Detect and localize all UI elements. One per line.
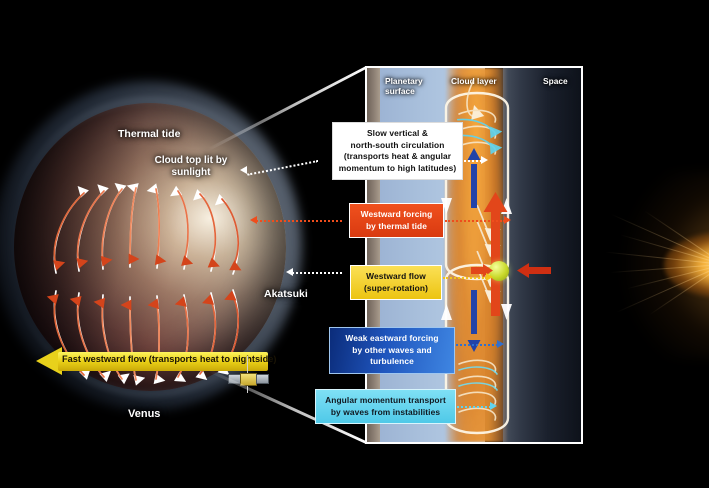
callout-line: (transports heat & angular xyxy=(337,151,458,163)
solar-panel-right xyxy=(256,374,269,384)
connector-westward-flow-right xyxy=(443,277,487,279)
connector-arrow-slow xyxy=(481,156,488,164)
callout-line: Westward forcing xyxy=(353,209,440,221)
callout-line: Westward flow xyxy=(354,271,438,283)
connector-arrow-cloudtop xyxy=(240,166,247,174)
callout-line: (super-rotation) xyxy=(354,283,438,295)
space-band xyxy=(503,68,583,442)
callout-line: by waves from instabilities xyxy=(319,407,452,419)
parcel-push-arrows xyxy=(471,258,581,286)
connector-westward-forcing-right xyxy=(445,220,505,222)
callout-line: by thermal tide xyxy=(353,221,440,233)
connector-westward-forcing-left xyxy=(256,220,342,222)
connector-angular-momentum xyxy=(457,406,491,408)
antenna-mast-upper xyxy=(247,356,248,374)
callout-westward-flow[interactable]: Westward flow (super-rotation) xyxy=(350,265,442,300)
callout-westward-forcing[interactable]: Westward forcing by thermal tide xyxy=(349,203,444,238)
connector-westward-flow-left xyxy=(292,272,342,274)
callout-slow-circulation[interactable]: Slow vertical & north-south circulation … xyxy=(332,122,463,180)
callout-angular-momentum[interactable]: Angular momentum transport by waves from… xyxy=(315,389,456,424)
connector-arrow-eastward-forcing xyxy=(497,340,504,348)
callout-line: Angular momentum transport xyxy=(319,395,452,407)
sun-glow xyxy=(612,178,709,350)
callout-line: momentum to high latitudes) xyxy=(337,163,458,175)
spacecraft-bus xyxy=(240,373,257,386)
connector-arrow-thermal-tide xyxy=(250,216,257,224)
super-rotation-parcel-group xyxy=(471,258,581,286)
connector-arrow-westward-forcing xyxy=(504,216,511,224)
space-header: Space xyxy=(543,76,568,86)
callout-line: by other waves and turbulence xyxy=(333,345,451,368)
callout-line: Weak eastward forcing xyxy=(333,333,451,345)
connector-arrow-westward-flow xyxy=(486,273,493,281)
callout-line: Slow vertical & xyxy=(337,128,458,140)
akatsuki-spacecraft-icon xyxy=(228,363,262,393)
callout-eastward-forcing[interactable]: Weak eastward forcing by other waves and… xyxy=(329,327,455,374)
callout-line: north-south circulation xyxy=(337,140,458,152)
connector-arrow-akatsuki xyxy=(286,268,293,276)
planetary-surface-header: Planetary surface xyxy=(385,76,435,96)
cloud-layer-header: Cloud layer xyxy=(451,76,497,86)
diagram-canvas: Fast westward flow (transports heat to n… xyxy=(0,0,709,488)
connector-slow-circulation xyxy=(464,160,482,162)
connector-eastward-forcing xyxy=(456,344,498,346)
connector-arrow-angular-momentum xyxy=(490,402,497,410)
venus-illustration: Fast westward flow (transports heat to n… xyxy=(0,95,300,425)
